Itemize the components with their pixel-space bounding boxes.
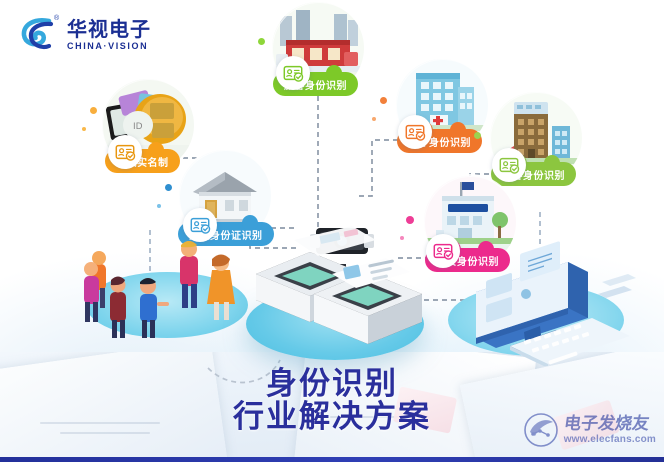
accent-dot [372,117,376,121]
watermark: 电子发烧友 www.elecfans.com [523,412,656,448]
person [84,262,99,322]
id-card-icon[interactable] [426,234,460,268]
id-card-icon[interactable] [492,148,526,182]
watermark-url: www.elecfans.com [564,435,656,445]
accent-dot [380,97,387,104]
id-card-icon[interactable] [398,115,432,149]
queue-of-people [84,236,256,352]
poster-canvas: ® 华视电子 CHINA·VISION [0,0,664,462]
accent-dot [474,132,481,139]
accent-dot [90,107,97,114]
floating-card [598,274,636,298]
elecfans-logo-icon [523,412,559,448]
person [180,241,198,308]
person [110,277,126,339]
watermark-name: 电子发烧友 [562,416,657,433]
accent-dot [165,184,172,191]
id-card-icon[interactable] [108,135,142,169]
accent-dot [82,127,86,131]
id-card-reader-group[interactable] [248,212,428,348]
title-line-1: 身份识别 [0,368,664,401]
watermark-text: 电子发烧友 www.elecfans.com [564,416,656,445]
id-card-icon[interactable] [276,56,310,90]
person [140,278,169,338]
accent-dot [157,204,161,208]
accent-dot [258,38,265,45]
id-card-icon[interactable] [183,208,217,242]
person [207,255,235,321]
